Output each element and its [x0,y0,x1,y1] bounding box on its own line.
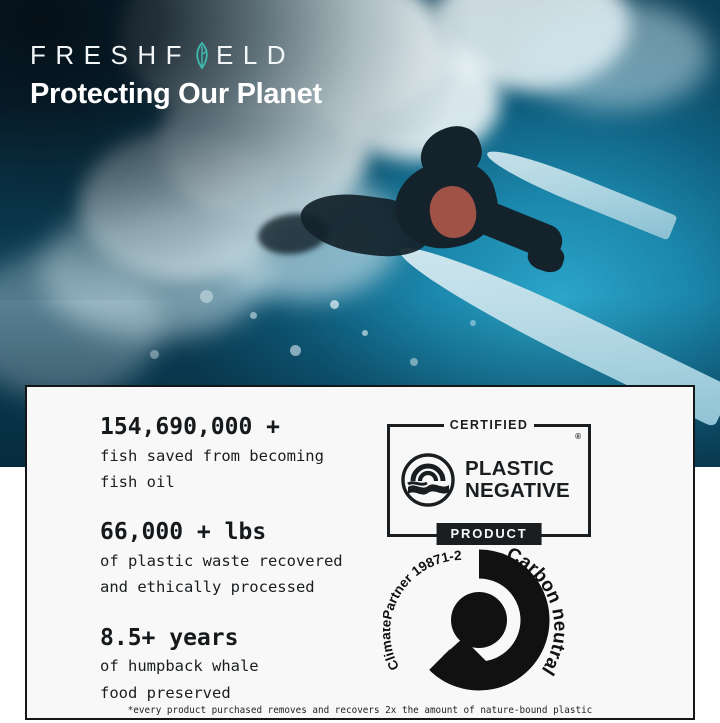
bubble [290,345,301,356]
badge-title: PLASTIC NEGATIVE [465,458,570,502]
wave-sun-circle-icon [401,453,455,507]
carbon-neutral-badge: ClimatePartner 19871-2206-1001 Carbon ne… [383,540,583,705]
bubble [410,358,418,366]
leaf-icon [192,41,212,71]
brand-text-part1: FRESHF [30,40,191,71]
stat-item: 66,000 + lbs of plastic waste recovered … [100,518,377,599]
page-title: Protecting Our Planet [30,78,322,111]
badge-title-line1: PLASTIC [465,458,570,480]
registered-mark: ® [575,432,581,441]
stat-description-line1: of plastic waste recovered [100,550,377,573]
stat-value: 154,690,000 + [100,413,377,442]
bubble [470,320,476,326]
stat-description-line2: food preserved [100,682,377,705]
stat-description-line1: fish saved from becoming [100,445,377,468]
bubble [150,350,159,359]
panel-body: 154,690,000 + fish saved from becoming f… [27,387,693,705]
stat-item: 8.5+ years of humpback whale food preser… [100,624,377,705]
stats-column: 154,690,000 + fish saved from becoming f… [27,413,377,705]
brand-logo: FRESHF ELD [30,40,295,71]
certified-label: CERTIFIED [444,418,535,432]
foam-blob [520,0,710,110]
certified-banner: CERTIFIED [390,418,588,432]
panel-footnote: *every product purchased removes and rec… [27,705,693,723]
brand-text-part2: ELD [216,40,295,71]
bubble [250,312,257,319]
stat-value: 66,000 + lbs [100,518,377,547]
badge-title-line2: NEGATIVE [465,480,570,502]
stat-description-line1: of humpback whale [100,655,377,678]
bubble [200,290,213,303]
stat-item: 154,690,000 + fish saved from becoming f… [100,413,377,494]
stat-description-line2: fish oil [100,471,377,494]
impact-stats-panel: 154,690,000 + fish saved from becoming f… [25,385,695,720]
bubble [330,300,339,309]
stat-description-line2: and ethically processed [100,576,377,599]
certification-badges: CERTIFIED ® PLA [377,413,675,705]
banner-rule-right [534,424,560,427]
bubble [362,330,368,336]
banner-rule-left [418,424,444,427]
plastic-negative-badge: CERTIFIED ® PLA [387,424,591,537]
badge-content: PLASTIC NEGATIVE [390,447,588,513]
stat-value: 8.5+ years [100,624,377,653]
